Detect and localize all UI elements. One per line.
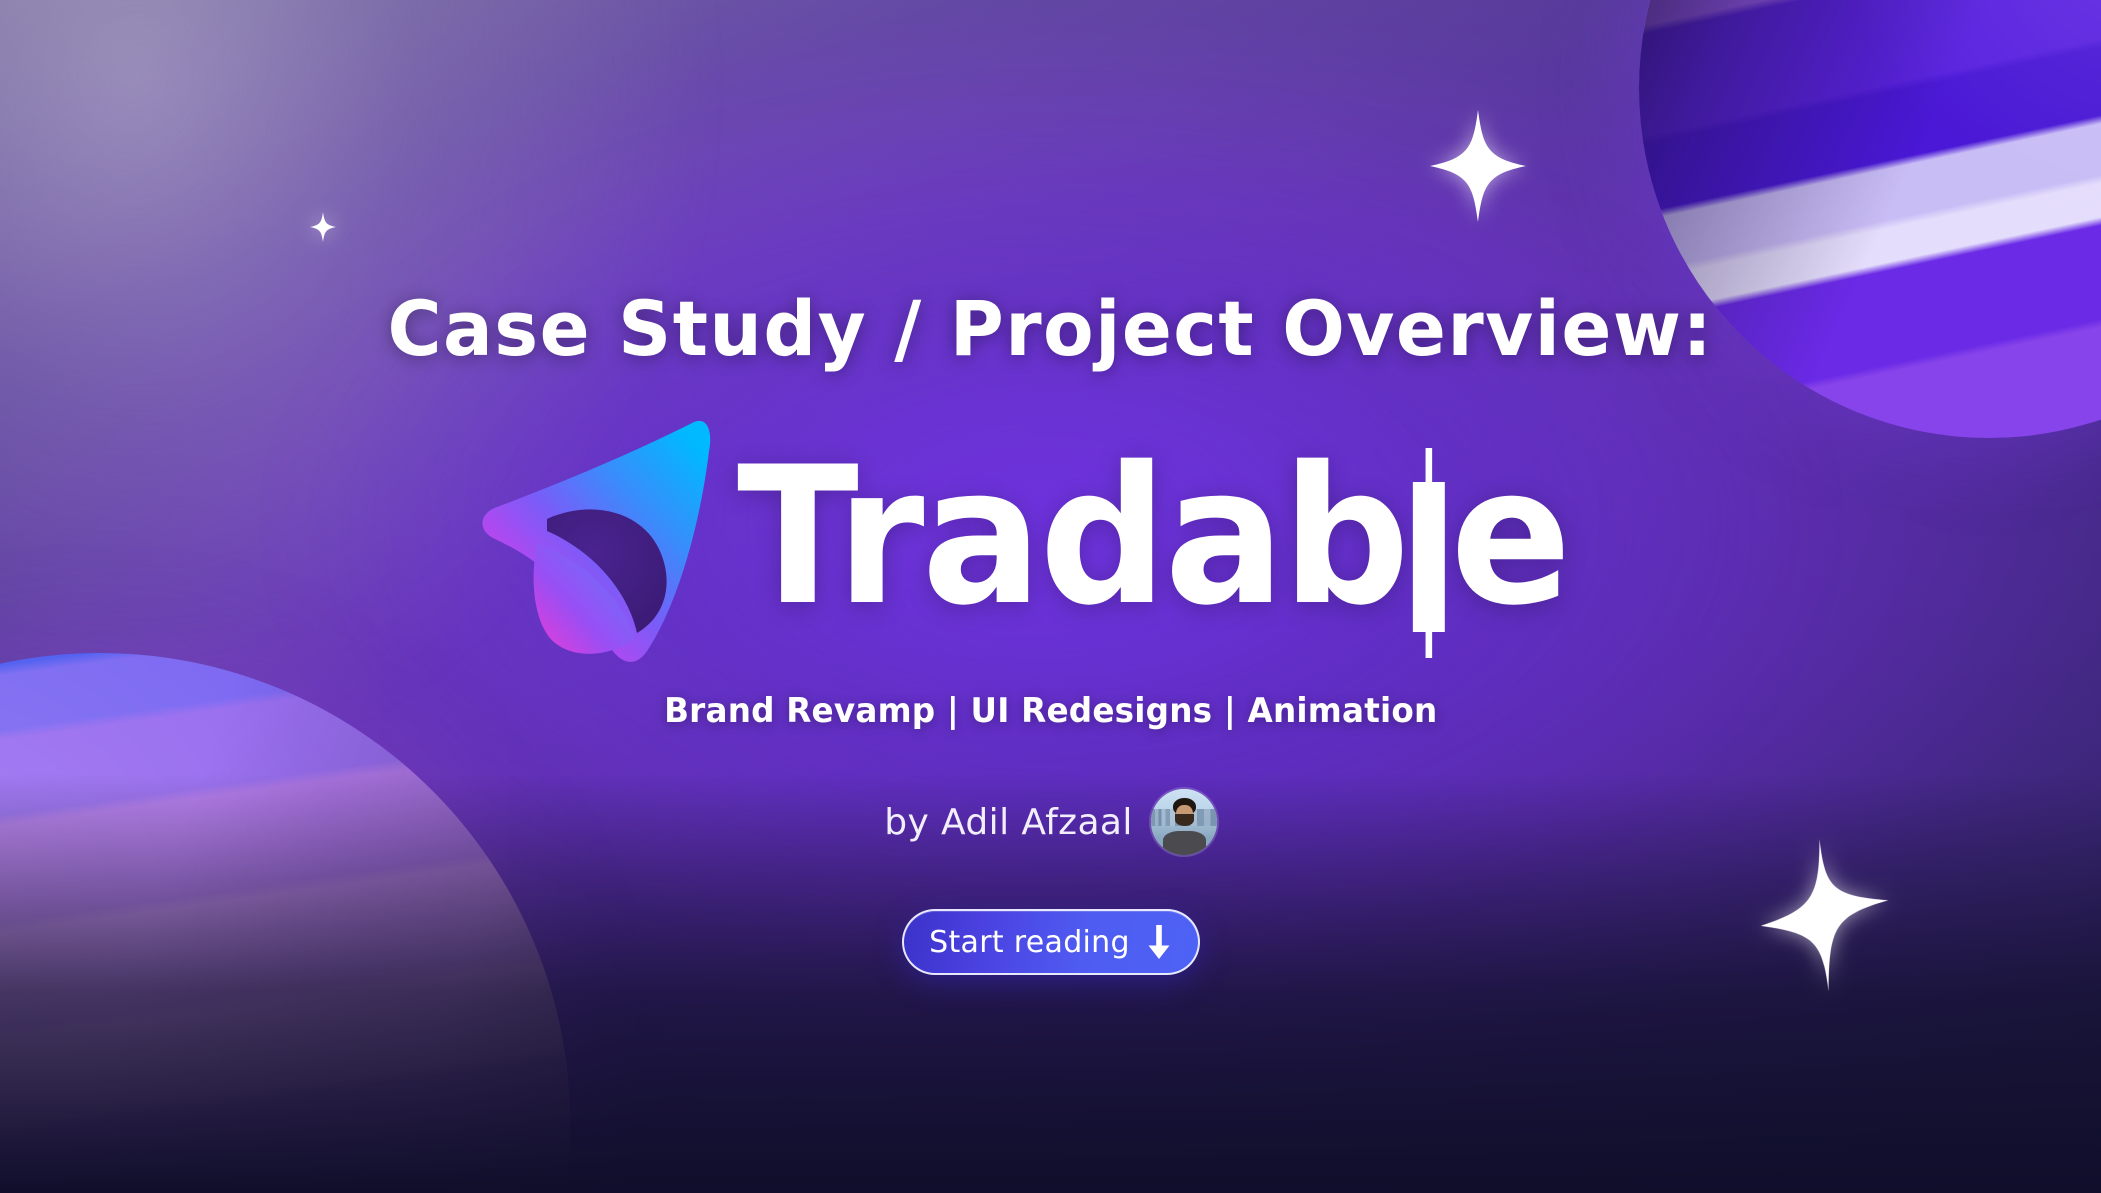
wordmark-part-2: e <box>1450 451 1568 622</box>
byline: by Adil Afzaal <box>884 789 1217 855</box>
arrow-down-icon <box>1146 925 1172 959</box>
start-reading-label: Start reading <box>929 925 1130 960</box>
tradable-wordmark: Tradab e <box>737 451 1569 622</box>
page-title: Case Study / Project Overview: <box>388 284 1714 373</box>
avatar <box>1151 789 1217 855</box>
hero-slide: Case Study / Project Overview: <box>0 0 2101 1193</box>
wordmark-candlestick-l <box>1413 482 1445 632</box>
start-reading-button[interactable]: Start reading <box>902 909 1200 975</box>
hero-subtitle: Brand Revamp | UI Redesigns | Animation <box>664 691 1437 731</box>
cta-wrapper: Start reading <box>902 909 1200 975</box>
hero-content: Case Study / Project Overview: <box>0 0 2101 1193</box>
tradable-play-mark-icon <box>479 407 711 665</box>
byline-text: by Adil Afzaal <box>884 802 1133 843</box>
wordmark-part-1: Tradab <box>737 451 1407 622</box>
brand-lockup: Tradab e <box>479 407 1622 665</box>
